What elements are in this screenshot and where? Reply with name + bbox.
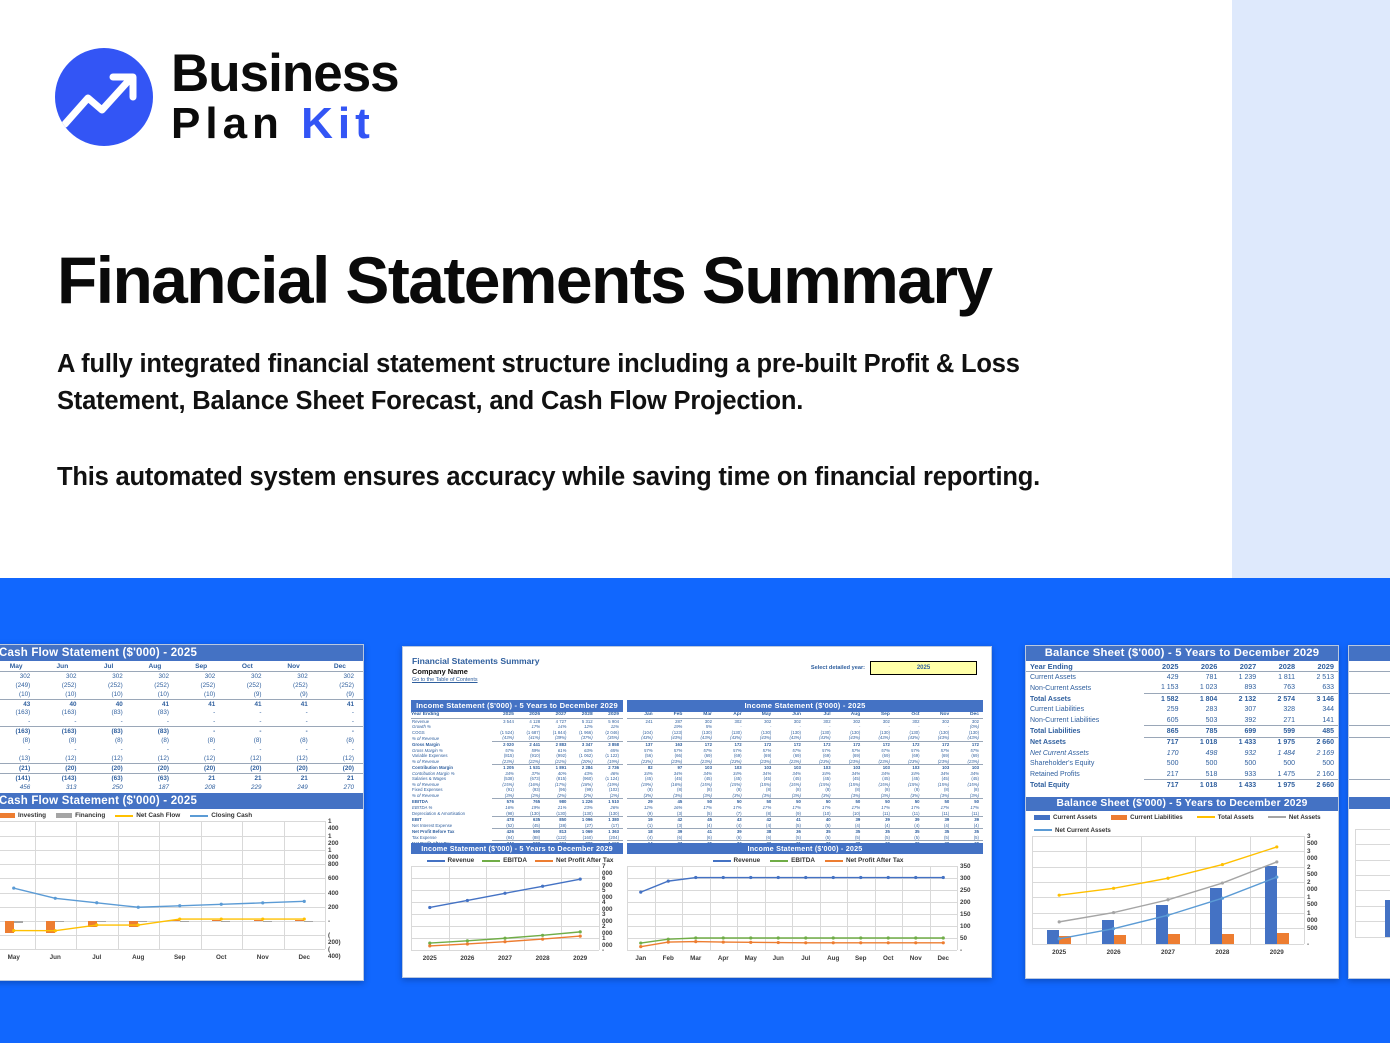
table-cell: (83) bbox=[86, 708, 132, 717]
legend-label: Net Assets bbox=[1289, 814, 1321, 821]
table-row: Retained Profits2175189331 4752 160 bbox=[1026, 769, 1338, 780]
column-header: Oct bbox=[224, 662, 270, 671]
table-cell: - bbox=[317, 717, 363, 726]
legend-swatch bbox=[115, 815, 133, 817]
table-row: 1 081 bbox=[1349, 748, 1390, 758]
legend-item: Investing bbox=[0, 812, 46, 819]
table-row: 93 bbox=[1349, 705, 1390, 715]
table-cell: 302 bbox=[317, 671, 363, 680]
table-cell: 498 bbox=[1182, 748, 1221, 758]
table-cell: (9) bbox=[317, 690, 363, 699]
cash-flow-chart-plot: 1 4001 2001 000800600400200-( 200)( 400)… bbox=[0, 821, 325, 961]
legend-swatch bbox=[1197, 816, 1215, 818]
year-selector-label: Select detailed year: bbox=[811, 665, 865, 671]
table-row: Non-Current Liabilities605503392271141 bbox=[1026, 715, 1338, 726]
table-header-row: MayJunJulAugSepOctNovDec bbox=[0, 662, 363, 671]
table-row: 512 bbox=[1349, 780, 1390, 791]
y-axis-tick: 1 000 bbox=[328, 847, 339, 861]
annual-income-statement-title: Income Statement ($'000) - 5 Years to De… bbox=[411, 700, 623, 712]
table-cell: (252) bbox=[317, 681, 363, 690]
y-axis-tick: 3 000 bbox=[1307, 848, 1318, 862]
table-cell: (12) bbox=[224, 754, 270, 763]
table-cell: (252) bbox=[178, 681, 224, 690]
table-cell: 392 bbox=[1221, 715, 1260, 726]
annual-income-chart-title: Income Statement ($'000) - 5 Years to De… bbox=[411, 843, 623, 854]
annual-income-chart-plot: 7 0006 0005 0004 0003 0002 0001 000-2025… bbox=[411, 866, 599, 962]
table-cell: (252) bbox=[39, 681, 85, 690]
table-row: 692 bbox=[1349, 715, 1390, 726]
table-cell: - bbox=[132, 717, 178, 726]
brand-logo: Business Plan Kit bbox=[55, 48, 399, 146]
table-row: Net Current Assets1704989321 4842 169 bbox=[1026, 748, 1338, 758]
legend-item: EBITDA bbox=[770, 857, 815, 864]
table-cell: 500 bbox=[1221, 759, 1260, 769]
table-cell: 40 bbox=[39, 699, 85, 708]
y-axis-tick: 50 bbox=[960, 935, 967, 942]
table-cell: 307 bbox=[1221, 705, 1260, 715]
row-label: Total Assets bbox=[1026, 694, 1144, 705]
column-header: 2029 bbox=[1299, 661, 1338, 672]
table-row: Current Liabilities259283307328344 bbox=[1026, 705, 1338, 715]
column-header: 2026 bbox=[1182, 661, 1221, 672]
table-cell: 21 bbox=[224, 773, 270, 782]
table-cell: (10) bbox=[86, 690, 132, 699]
table-cell: 500 bbox=[1260, 759, 1299, 769]
table-cell: - bbox=[86, 717, 132, 726]
table-cell: 503 bbox=[1182, 715, 1221, 726]
table-header-row: Jan bbox=[1349, 661, 1390, 672]
monthly-income-statement-title: Income Statement ($'000) - 2025 bbox=[627, 700, 983, 712]
column-header: 2025 bbox=[1144, 661, 1183, 672]
table-cell: 170 bbox=[1144, 748, 1183, 758]
table-cell: 40 bbox=[86, 699, 132, 708]
table-cell: (249) bbox=[0, 681, 39, 690]
legend-swatch bbox=[190, 815, 208, 817]
table-row: 1 297 bbox=[1349, 694, 1390, 705]
legend-label: Net Current Assets bbox=[1055, 827, 1111, 834]
table-cell: (10) bbox=[0, 690, 39, 699]
monthly-income-chart-block: Income Statement ($'000) - 2025 RevenueE… bbox=[627, 843, 983, 962]
monthly-income-chart-title: Income Statement ($'000) - 2025 bbox=[627, 843, 983, 854]
legend-item: Total Assets bbox=[1197, 814, 1254, 821]
y-axis-tick: 1 500 bbox=[1307, 894, 1318, 908]
annual-income-statement-block: Income Statement ($'000) - 5 Years to De… bbox=[411, 700, 623, 852]
column-header: Jul bbox=[86, 662, 132, 671]
table-cell: 2 169 bbox=[1299, 748, 1338, 758]
table-cell: 250 bbox=[86, 783, 132, 792]
y-axis-tick: 350 bbox=[960, 863, 971, 870]
table-cell: 1 484 bbox=[1260, 748, 1299, 758]
brand-line-1: Business bbox=[171, 49, 399, 99]
balance-sheet-monthly-screenshot[interactable]: Jan1 1741241 297936927865121 08150012512… bbox=[1348, 645, 1390, 979]
table-cell: (63) bbox=[132, 773, 178, 782]
year-selector-input[interactable]: 2025 bbox=[870, 661, 977, 675]
legend-swatch bbox=[1034, 829, 1052, 831]
table-cell: (83) bbox=[132, 708, 178, 717]
column-header: Dec bbox=[317, 662, 363, 671]
table-cell: (143) bbox=[39, 773, 85, 782]
cash-flow-table-title: Cash Flow Statement ($'000) - 2025 bbox=[0, 645, 363, 661]
table-cell: 429 bbox=[1144, 672, 1183, 683]
table-cell: 208 bbox=[178, 783, 224, 792]
row-label: Net Current Assets bbox=[1026, 748, 1144, 758]
y-axis-tick: 2 000 bbox=[1307, 879, 1318, 893]
table-cell: (20) bbox=[39, 763, 85, 773]
row-label: Total Equity bbox=[1026, 780, 1144, 791]
legend-label: EBITDA bbox=[503, 857, 527, 864]
table-cell: (12) bbox=[132, 754, 178, 763]
legend-label: Current Liabilities bbox=[1130, 814, 1183, 821]
table-cell: 1 475 bbox=[1260, 769, 1299, 780]
column-header: Jan bbox=[1349, 661, 1390, 672]
table-header-row: Year Ending20252026202720282029 bbox=[1026, 661, 1338, 672]
table-cell: (252) bbox=[224, 681, 270, 690]
table-cell: 1 433 bbox=[1221, 780, 1260, 791]
y-axis-tick: - bbox=[328, 918, 330, 925]
table-cell: 785 bbox=[1182, 726, 1221, 737]
table-row: (21)(20)(20)(20)(20)(20)(20)(20) bbox=[0, 763, 363, 773]
legend-label: Revenue bbox=[734, 857, 761, 864]
description-paragraph-2: This automated system ensures accuracy w… bbox=[57, 459, 1147, 496]
table-cell: - bbox=[271, 708, 317, 717]
table-cell: (20) bbox=[271, 763, 317, 773]
table-row: 500 bbox=[1349, 759, 1390, 769]
legend-item: Net Assets bbox=[1268, 814, 1321, 821]
table-cell: 302 bbox=[132, 671, 178, 680]
poster-page: Business Plan Kit Financial Statements S… bbox=[0, 0, 1390, 1043]
table-cell: 1 174 bbox=[1349, 672, 1390, 683]
table-cell: - bbox=[224, 708, 270, 717]
table-cell: (163) bbox=[39, 708, 85, 717]
legend-label: Revenue bbox=[448, 857, 475, 864]
table-row: -------- bbox=[0, 745, 363, 754]
table-row: 786 bbox=[1349, 726, 1390, 737]
brand-plan: Plan bbox=[171, 99, 284, 148]
table-cell: 2 660 bbox=[1299, 737, 1338, 748]
table-cell: - bbox=[178, 727, 224, 736]
table-cell: 41 bbox=[178, 699, 224, 708]
table-cell: 2 513 bbox=[1299, 672, 1338, 683]
table-cell: 512 bbox=[1349, 737, 1390, 748]
table-cell: (20) bbox=[224, 763, 270, 773]
legend-label: EBITDA bbox=[791, 857, 815, 864]
legend-item: Net Cash Flow bbox=[115, 812, 180, 819]
table-cell: 518 bbox=[1182, 769, 1221, 780]
row-label: Non-Current Liabilities bbox=[1026, 715, 1144, 726]
legend-swatch bbox=[1111, 815, 1127, 820]
table-cell: - bbox=[271, 727, 317, 736]
annual-income-statement-table: Year Ending20252026202720282029Revenue3 … bbox=[411, 712, 623, 852]
table-cell: 512 bbox=[1349, 780, 1390, 791]
balance-sheet-chart-plot: 3 5003 0002 5002 0001 5001 000500-202520… bbox=[1032, 836, 1304, 956]
table-cell: 21 bbox=[317, 773, 363, 782]
table-cell: (20) bbox=[132, 763, 178, 773]
table-cell: (83) bbox=[132, 727, 178, 736]
legend-item: Financing bbox=[56, 812, 105, 819]
column-header: Sep bbox=[178, 662, 224, 671]
table-cell: (63) bbox=[86, 773, 132, 782]
table-cell: - bbox=[224, 745, 270, 754]
table-cell: 344 bbox=[1299, 705, 1338, 715]
table-cell: 229 bbox=[224, 783, 270, 792]
edge-chart-plot: Jan bbox=[1355, 829, 1390, 949]
y-axis-tick: 500 bbox=[1307, 925, 1318, 932]
table-cell: 43 bbox=[0, 699, 39, 708]
column-header: Year Ending bbox=[1026, 661, 1144, 672]
y-axis-tick: 1 400 bbox=[328, 818, 339, 832]
table-cell: - bbox=[271, 745, 317, 754]
y-axis-tick: 600 bbox=[328, 875, 339, 882]
balance-sheet-chart-title: Balance Sheet ($'000) - 5 Years to Decem… bbox=[1026, 797, 1338, 811]
legend-label: Closing Cash bbox=[211, 812, 252, 819]
table-cell: 1 153 bbox=[1144, 683, 1183, 694]
monthly-income-statement-table: JanFebMarAprMayJunJulAugSepOctNovDec2412… bbox=[627, 712, 983, 852]
cash-flow-screenshot[interactable]: Cash Flow Statement ($'000) - 2025 MayJu… bbox=[0, 644, 364, 981]
table-cell: (12) bbox=[271, 754, 317, 763]
table-row: Non-Current Assets1 1531 023893763633 bbox=[1026, 683, 1338, 694]
row-label: Net Assets bbox=[1026, 737, 1144, 748]
table-cell: (20) bbox=[317, 763, 363, 773]
table-cell: 1 975 bbox=[1260, 737, 1299, 748]
table-cell: 217 bbox=[1144, 769, 1183, 780]
table-cell: (8) bbox=[271, 736, 317, 745]
table-cell: 786 bbox=[1349, 726, 1390, 737]
table-cell: 699 bbox=[1221, 726, 1260, 737]
balance-sheet-table: Year Ending20252026202720282029Current A… bbox=[1026, 661, 1338, 791]
row-label: Non-Current Assets bbox=[1026, 683, 1144, 694]
gridline-vertical bbox=[1304, 836, 1305, 944]
table-cell: (8) bbox=[132, 736, 178, 745]
table-cell: 124 bbox=[1349, 683, 1390, 694]
table-cell: 717 bbox=[1144, 737, 1183, 748]
table-row: 456313250187208229249270 bbox=[0, 783, 363, 792]
table-row: Current Assets4297811 2391 8112 513 bbox=[1026, 672, 1338, 683]
legend-item: Net Current Assets bbox=[1034, 827, 1111, 834]
y-axis-tick: - bbox=[1307, 941, 1309, 948]
table-cell: 249 bbox=[271, 783, 317, 792]
table-cell: - bbox=[39, 717, 85, 726]
decorative-pale-panel bbox=[1232, 0, 1390, 578]
gridline-vertical bbox=[325, 821, 326, 949]
table-cell: 21 bbox=[271, 773, 317, 782]
table-cell: 270 bbox=[317, 783, 363, 792]
description-paragraph-1: A fully integrated financial statement s… bbox=[57, 346, 1147, 421]
table-cell: - bbox=[178, 717, 224, 726]
gridline-vertical bbox=[957, 866, 958, 950]
annual-income-chart-legend: RevenueEBITDANet Profit After Tax bbox=[411, 854, 623, 866]
table-cell: (20) bbox=[178, 763, 224, 773]
legend-swatch bbox=[1034, 815, 1050, 820]
table-cell: 1 081 bbox=[1349, 748, 1390, 758]
table-cell: (8) bbox=[178, 736, 224, 745]
edge-table-title bbox=[1349, 646, 1390, 661]
table-cell: 763 bbox=[1260, 683, 1299, 694]
legend-item: Revenue bbox=[713, 857, 761, 864]
table-cell: (12) bbox=[178, 754, 224, 763]
y-axis-tick: 1 200 bbox=[328, 833, 339, 847]
table-cell: (10) bbox=[178, 690, 224, 699]
y-axis-tick: 100 bbox=[960, 923, 971, 930]
table-cell: 302 bbox=[0, 671, 39, 680]
table-cell: 302 bbox=[224, 671, 270, 680]
table-row: (141)(143)(63)(63)21212121 bbox=[0, 773, 363, 782]
legend-label: Net Cash Flow bbox=[136, 812, 180, 819]
legend-swatch bbox=[825, 860, 843, 862]
table-cell: (21) bbox=[0, 763, 39, 773]
table-cell: - bbox=[317, 727, 363, 736]
table-cell: 41 bbox=[317, 699, 363, 708]
table-row: (10)(10)(10)(10)(10)(9)(9)(9) bbox=[0, 690, 363, 699]
table-cell: 1 811 bbox=[1260, 672, 1299, 683]
table-cell: 1 018 bbox=[1182, 737, 1221, 748]
table-cell: (8) bbox=[224, 736, 270, 745]
table-cell: 500 bbox=[1144, 759, 1183, 769]
table-cell: 1 018 bbox=[1182, 780, 1221, 791]
table-cell: 141 bbox=[1299, 715, 1338, 726]
table-cell: (163) bbox=[0, 727, 39, 736]
y-axis-tick: 150 bbox=[960, 911, 971, 918]
table-row: 1 174 bbox=[1349, 672, 1390, 683]
brand-kit: Kit bbox=[301, 99, 375, 148]
table-cell: - bbox=[271, 717, 317, 726]
y-axis-tick: 3 500 bbox=[1307, 833, 1318, 847]
balance-sheet-screenshot[interactable]: Balance Sheet ($'000) - 5 Years to Decem… bbox=[1025, 645, 1339, 979]
table-cell: - bbox=[317, 708, 363, 717]
table-cell: (10) bbox=[132, 690, 178, 699]
column-header: Aug bbox=[132, 662, 178, 671]
legend-item: Closing Cash bbox=[190, 812, 252, 819]
table-cell: 2 160 bbox=[1299, 769, 1338, 780]
table-cell: (13) bbox=[0, 754, 39, 763]
chart-lines bbox=[1032, 836, 1304, 956]
gridline-vertical bbox=[599, 866, 600, 950]
legend-swatch bbox=[770, 860, 788, 862]
table-row: Net Assets7171 0181 4331 9752 660 bbox=[1026, 737, 1338, 748]
cash-flow-chart-title: Cash Flow Statement ($'000) - 2025 bbox=[0, 793, 363, 809]
table-row: (8)(8)(8)(8)(8)(8)(8)(8) bbox=[0, 736, 363, 745]
y-axis-tick: - bbox=[960, 947, 962, 954]
edge-chart-title bbox=[1349, 797, 1390, 809]
table-row: 302302302302302302302302 bbox=[0, 671, 363, 680]
chart-lines bbox=[0, 821, 325, 961]
table-cell: - bbox=[178, 745, 224, 754]
monthly-income-chart-legend: RevenueEBITDANet Profit After Tax bbox=[627, 854, 983, 866]
balance-sheet-table-title: Balance Sheet ($'000) - 5 Years to Decem… bbox=[1026, 646, 1338, 661]
table-cell: - bbox=[224, 717, 270, 726]
y-axis-tick: 1 000 bbox=[1307, 910, 1318, 924]
table-row: Total Equity7171 0181 4331 9752 660 bbox=[1026, 780, 1338, 791]
table-cell: (141) bbox=[0, 773, 39, 782]
legend-swatch bbox=[535, 860, 553, 862]
table-cell: 485 bbox=[1299, 726, 1338, 737]
table-cell: 302 bbox=[178, 671, 224, 680]
legend-item: Net Profit After Tax bbox=[825, 857, 904, 864]
growth-arrow-icon bbox=[55, 48, 153, 146]
table-cell: (252) bbox=[271, 681, 317, 690]
table-cell: 1 297 bbox=[1349, 694, 1390, 705]
table-cell: (10) bbox=[39, 690, 85, 699]
table-cell: 302 bbox=[86, 671, 132, 680]
table-row: Shareholder's Equity500500500500500 bbox=[1026, 759, 1338, 769]
table-cell: - bbox=[132, 745, 178, 754]
table-row: (13)(12)(12)(12)(12)(12)(12)(12) bbox=[0, 754, 363, 763]
table-cell: - bbox=[178, 708, 224, 717]
table-cell: (9) bbox=[224, 690, 270, 699]
table-cell: 12 bbox=[1349, 769, 1390, 780]
table-cell: 328 bbox=[1260, 705, 1299, 715]
table-row: (249)(252)(252)(252)(252)(252)(252)(252) bbox=[0, 681, 363, 690]
table-cell: - bbox=[224, 727, 270, 736]
table-cell: 93 bbox=[1349, 705, 1390, 715]
legend-swatch bbox=[482, 860, 500, 862]
y-axis-tick: 800 bbox=[328, 861, 339, 868]
y-axis-tick: 250 bbox=[960, 887, 971, 894]
table-cell: 717 bbox=[1144, 780, 1183, 791]
table-row: Total Liabilities865785699599485 bbox=[1026, 726, 1338, 737]
table-row: (163)(163)(83)(83)---- bbox=[0, 708, 363, 717]
table-cell: 1 582 bbox=[1144, 694, 1183, 705]
table-cell: (12) bbox=[39, 754, 85, 763]
table-row: Total Assets1 5821 8042 1322 5743 146 bbox=[1026, 694, 1338, 705]
table-cell: 41 bbox=[271, 699, 317, 708]
legend-label: Total Assets bbox=[1218, 814, 1254, 821]
table-row: (163)(163)(83)(83)---- bbox=[0, 727, 363, 736]
table-cell: (83) bbox=[86, 727, 132, 736]
table-cell: (8) bbox=[0, 736, 39, 745]
table-cell: 599 bbox=[1260, 726, 1299, 737]
row-label: Retained Profits bbox=[1026, 769, 1144, 780]
table-cell: (163) bbox=[0, 708, 39, 717]
table-of-contents-link[interactable]: Go to the Table of Contents bbox=[403, 676, 991, 683]
legend-label: Current Assets bbox=[1053, 814, 1097, 821]
legend-item: Current Liabilities bbox=[1111, 814, 1183, 821]
cash-flow-table: MayJunJulAugSepOctNovDec 302302302302302… bbox=[0, 662, 363, 791]
table-cell: (9) bbox=[271, 690, 317, 699]
table-row: 12 bbox=[1349, 769, 1390, 780]
row-label: Total Liabilities bbox=[1026, 726, 1144, 737]
legend-label: Financing bbox=[75, 812, 105, 819]
y-axis-tick: ( 400) bbox=[328, 946, 341, 960]
chart-lines bbox=[627, 866, 957, 962]
table-cell: 500 bbox=[1182, 759, 1221, 769]
financial-summary-screenshot[interactable]: Financial Statements Summary Company Nam… bbox=[402, 646, 992, 978]
table-cell: 1 239 bbox=[1221, 672, 1260, 683]
legend-label: Net Profit After Tax bbox=[846, 857, 904, 864]
table-row: -------- bbox=[0, 717, 363, 726]
y-axis-tick: 200 bbox=[960, 899, 971, 906]
table-cell: (252) bbox=[132, 681, 178, 690]
y-axis-tick: - bbox=[602, 947, 604, 954]
table-cell: 692 bbox=[1349, 715, 1390, 726]
edge-table: Jan1 1741241 297936927865121 08150012512 bbox=[1349, 661, 1390, 791]
column-header: May bbox=[0, 662, 39, 671]
legend-item: EBITDA bbox=[482, 857, 527, 864]
legend-swatch bbox=[0, 813, 15, 818]
table-cell: (163) bbox=[39, 727, 85, 736]
year-selector[interactable]: Select detailed year: 2025 bbox=[811, 661, 977, 675]
table-cell: - bbox=[39, 745, 85, 754]
table-cell: (12) bbox=[317, 754, 363, 763]
y-axis-tick: 200 bbox=[328, 904, 339, 911]
table-row: 124 bbox=[1349, 683, 1390, 694]
legend-swatch bbox=[1268, 816, 1286, 818]
table-cell: 500 bbox=[1299, 759, 1338, 769]
table-cell: 1 023 bbox=[1182, 683, 1221, 694]
table-cell: 893 bbox=[1221, 683, 1260, 694]
table-cell: (8) bbox=[317, 736, 363, 745]
legend-swatch bbox=[56, 813, 72, 818]
table-cell: 500 bbox=[1349, 759, 1390, 769]
